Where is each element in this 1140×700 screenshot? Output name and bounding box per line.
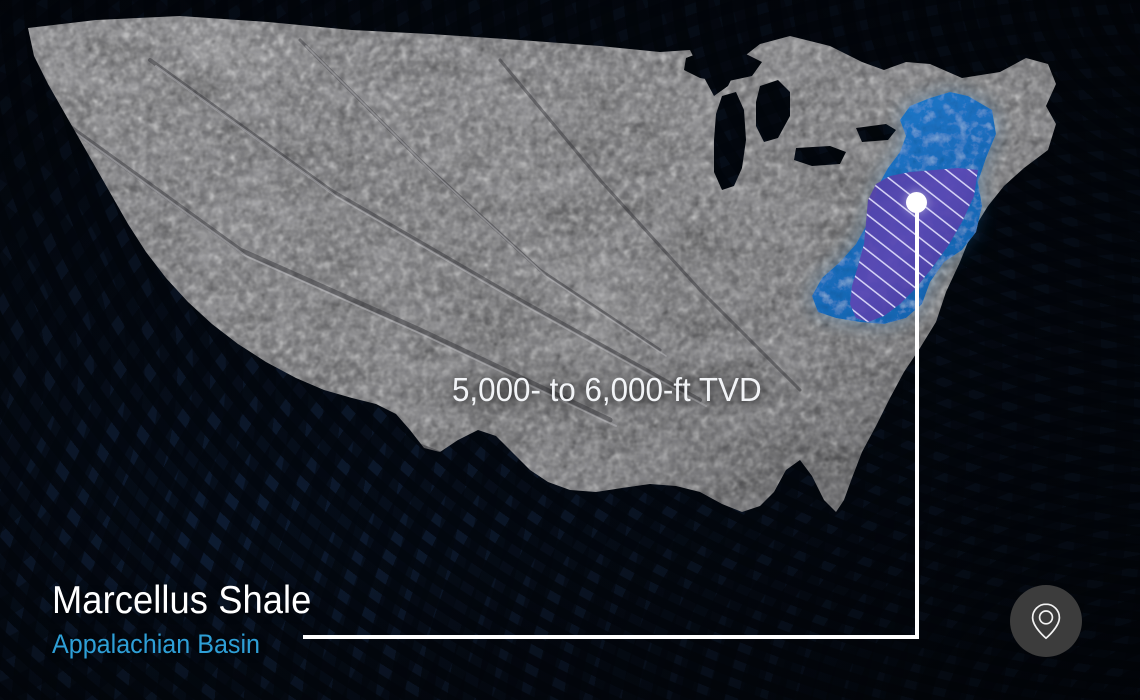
leader-line-vertical [915, 202, 919, 639]
location-marker-dot[interactable] [906, 192, 927, 213]
infographic-canvas: 5,000- to 6,000-ft TVD Marcellus Shale A… [0, 0, 1140, 700]
page-subtitle: Appalachian Basin [52, 631, 311, 658]
legend-block: Marcellus Shale Appalachian Basin [52, 581, 331, 658]
leader-line-horizontal [303, 635, 919, 639]
map-pin-icon [1029, 601, 1063, 641]
map-pin-button[interactable] [1010, 585, 1082, 657]
depth-annotation: 5,000- to 6,000-ft TVD [452, 371, 762, 409]
page-title: Marcellus Shale [52, 581, 311, 620]
